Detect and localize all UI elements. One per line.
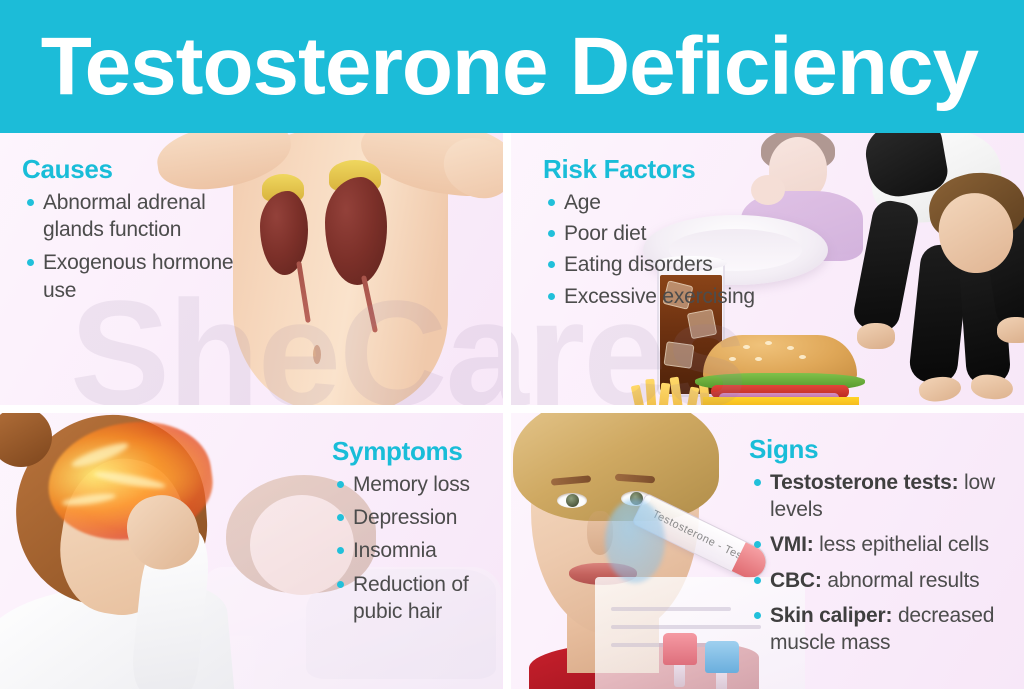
fry [670,377,686,405]
list-item: Abnormal adrenal glands function [22,189,237,244]
list-item-term: Skin caliper: [770,604,892,627]
causes-list: Abnormal adrenal glands function Exogeno… [22,189,237,304]
symptoms-text-block: Symptoms Memory loss Depression Insomnia… [332,437,503,631]
eye-left [557,493,587,508]
fry [657,383,671,405]
list-item: Depression [332,504,503,531]
panel-causes: Causes Abnormal adrenal glands function … [0,133,503,405]
fry [645,379,657,405]
list-item-text: abnormal results [827,569,979,592]
header-banner: Testosterone Deficiency [0,0,1024,133]
signs-text-block: Signs Testosterone tests: low levels VMI… [749,435,1024,665]
list-item-term: CBC: [770,569,822,592]
signs-list: Testosterone tests: low levels VMI: less… [749,469,1024,657]
list-item-text: less epithelial cells [819,533,989,556]
runner-illustration [811,133,1024,405]
vial-pink [663,633,697,685]
list-item-term: VMI: [770,533,814,556]
list-item: Skin caliper: decreased muscle mass [749,602,1024,657]
symptoms-heading: Symptoms [332,437,503,467]
list-item: Reduction of pubic hair [332,571,503,626]
vial-cap [663,633,697,665]
vial-blue [705,641,739,689]
list-item: Insomnia [332,537,503,564]
sesame-seed [765,341,772,345]
navel [313,345,321,364]
panel-signs: Testosterone - Test [511,413,1024,689]
paper-line [611,607,731,611]
list-item: Memory loss [332,471,503,498]
sesame-seed [755,357,762,361]
sesame-seed [799,355,806,359]
symptoms-list: Memory loss Depression Insomnia Reductio… [332,471,503,625]
list-item: Excessive exercising [543,283,768,310]
vial-cap [705,641,739,673]
list-item-term: Testosterone tests: [770,471,958,494]
signs-heading: Signs [749,435,1024,465]
iris-left [566,494,579,507]
risk-factors-list: Age Poor diet Eating disorders Excessive… [543,189,768,310]
list-item: Eating disorders [543,251,768,278]
page-title: Testosterone Deficiency [0,26,978,108]
horizontal-divider [0,405,1024,413]
list-item: Exogenous hormone use [22,249,237,304]
panel-risk-factors: Risk Factors Age Poor diet Eating disord… [511,133,1024,405]
list-item: VMI: less epithelial cells [749,531,1024,558]
sesame-seed [743,345,750,349]
vial-stem [674,663,685,687]
list-item: Testosterone tests: low levels [749,469,1024,524]
list-item: CBC: abnormal results [749,567,1024,594]
runner-foot-right [970,373,1014,401]
kidney-right [325,177,387,285]
kidney-right-body [325,177,387,285]
runner-hand-left [857,323,895,349]
runner-hand-right [997,317,1024,343]
list-item: Poor diet [543,220,768,247]
causes-text-block: Causes Abnormal adrenal glands function … [22,155,237,310]
blue-blur-blob [605,499,665,583]
panel-symptoms: Symptoms Memory loss Depression Insomnia… [0,413,503,689]
vial-stem [716,671,727,689]
headache-woman-illustration [0,413,316,689]
risk-factors-heading: Risk Factors [543,155,768,185]
list-item: Age [543,189,768,216]
paper-line [611,625,761,629]
risk-factors-text-block: Risk Factors Age Poor diet Eating disord… [543,155,768,314]
sesame-seed [729,357,736,361]
infographic-root: Testosterone Deficiency SheCares Causes [0,0,1024,689]
runner-arm-left [851,198,921,334]
sesame-seed [787,346,794,350]
causes-heading: Causes [22,155,237,185]
